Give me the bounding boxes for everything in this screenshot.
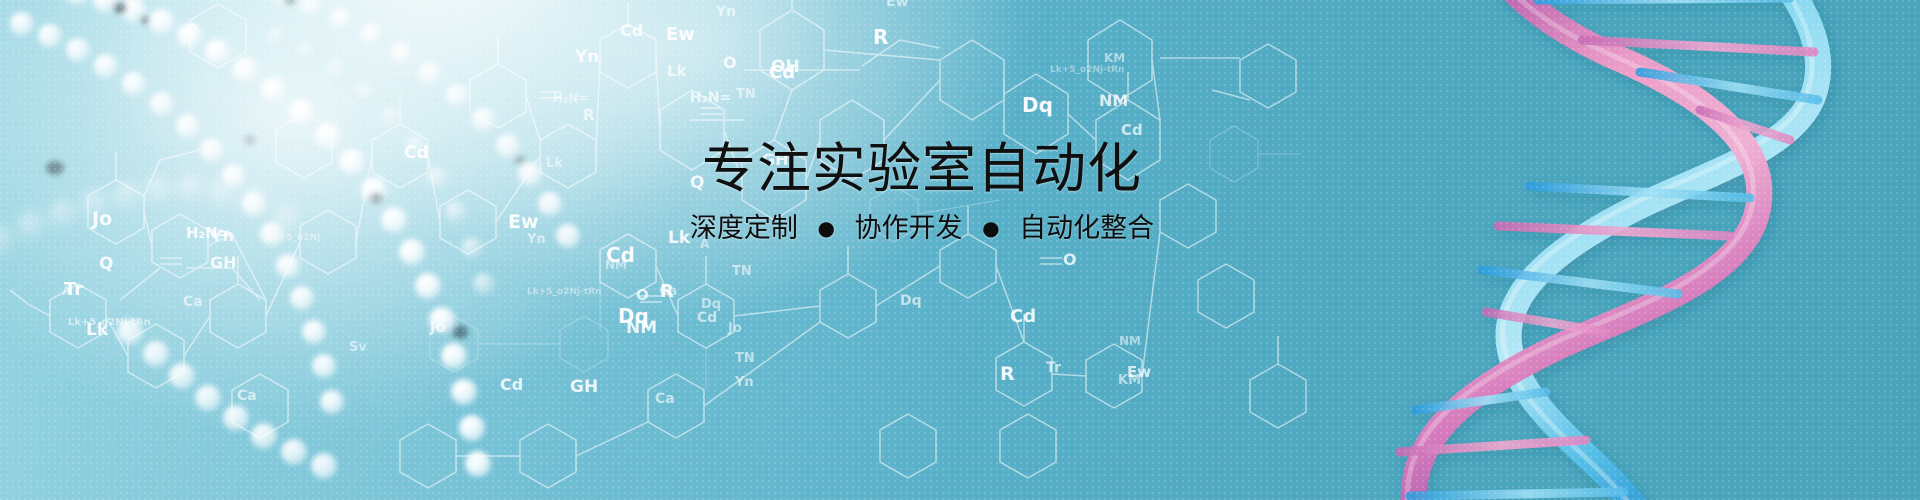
chem-label: Lk+5_o2Nj xyxy=(267,233,320,243)
chem-label: TN xyxy=(735,351,755,366)
chem-label: H₂N= xyxy=(553,91,588,105)
page-title: 专注实验室自动化 xyxy=(612,140,1232,197)
chem-label: Cd xyxy=(404,143,429,163)
chem-label: Jo xyxy=(429,318,446,336)
chem-label: GH xyxy=(210,253,237,272)
chem-label: KM xyxy=(1118,373,1141,388)
chem-label: H₂N= xyxy=(186,224,230,242)
chem-label: Dq xyxy=(1022,93,1053,117)
chem-label: O xyxy=(723,53,737,72)
chem-label: NM xyxy=(1119,334,1141,348)
dna-double-helix xyxy=(1230,0,1920,500)
chem-label: Dq xyxy=(618,304,649,328)
chem-label: GH xyxy=(570,377,598,397)
chem-label: Q xyxy=(186,22,198,38)
chem-label: Yn xyxy=(734,375,754,390)
chem-label: NM xyxy=(1099,91,1128,110)
chemical-structure-overlay: CdCdCdCdCdCdCdCdEwEwEwEwYnYnYnYnYnLkLkLk… xyxy=(0,0,1330,500)
chem-label: H₂N= xyxy=(690,90,731,106)
chem-label: Lk+5_o2Nj-tRn xyxy=(68,317,151,328)
chem-label: Ca xyxy=(237,388,257,404)
chem-label: Lk xyxy=(667,62,688,80)
hero-banner: CdCdCdCdCdCdCdCdEwEwEwEwYnYnYnYnYnLkLkLk… xyxy=(0,0,1920,500)
chem-label: Cd xyxy=(500,375,523,394)
chem-label: Tr xyxy=(1046,360,1061,376)
chem-label: Ew xyxy=(666,24,695,45)
chem-label: Jo xyxy=(90,208,112,230)
chem-label: Lk+5_o2Nj-tRn xyxy=(1050,65,1124,75)
chem-label: Yn xyxy=(574,47,599,67)
chem-label: Cd xyxy=(620,21,643,40)
chem-label: Dq xyxy=(701,297,721,312)
hero-subtitle: 深度定制 ● 协作开发 ● 自动化整合 xyxy=(612,213,1232,245)
chem-label: Ew xyxy=(508,211,539,233)
subtitle-segment-3: 自动化整合 xyxy=(1019,213,1154,245)
chem-label: Ew xyxy=(886,0,909,10)
chem-label: Ca xyxy=(655,391,675,407)
chem-label: Dq xyxy=(900,293,922,309)
subtitle-segment-1: 深度定制 xyxy=(690,213,798,245)
chem-label: R xyxy=(873,25,888,49)
chem-label: O xyxy=(1063,250,1077,269)
chem-label: O xyxy=(636,286,649,304)
hero-text-block: 专注实验室自动化 深度定制 ● 协作开发 ● 自动化整合 xyxy=(612,140,1232,246)
chem-label: OH xyxy=(771,57,800,77)
chem-label: Cd xyxy=(697,310,717,326)
chem-label: Jo xyxy=(727,321,742,336)
chem-label: Ca xyxy=(183,294,203,310)
chem-label: Sv xyxy=(349,340,367,355)
chem-label: Lk xyxy=(546,156,563,171)
chem-label: R xyxy=(583,106,595,124)
chem-label: Yn xyxy=(526,232,546,247)
chem-label: NM xyxy=(605,258,627,272)
bullet-separator-icon: ● xyxy=(817,216,834,240)
chem-label: Cd xyxy=(1010,306,1036,327)
chem-label: TN xyxy=(736,87,756,102)
chem-label: A xyxy=(62,284,72,298)
chem-label: R xyxy=(1000,363,1015,385)
chem-label: Q xyxy=(99,254,113,274)
chem-label: Yn xyxy=(715,4,736,20)
chem-label: Ca xyxy=(659,284,677,299)
bullet-separator-icon: ● xyxy=(982,216,999,240)
chem-label: KM xyxy=(1104,51,1125,65)
chem-label: Lk+5_o2Nj-tRn xyxy=(527,287,601,297)
chem-label: TN xyxy=(732,264,752,279)
subtitle-segment-2: 协作开发 xyxy=(855,213,963,245)
